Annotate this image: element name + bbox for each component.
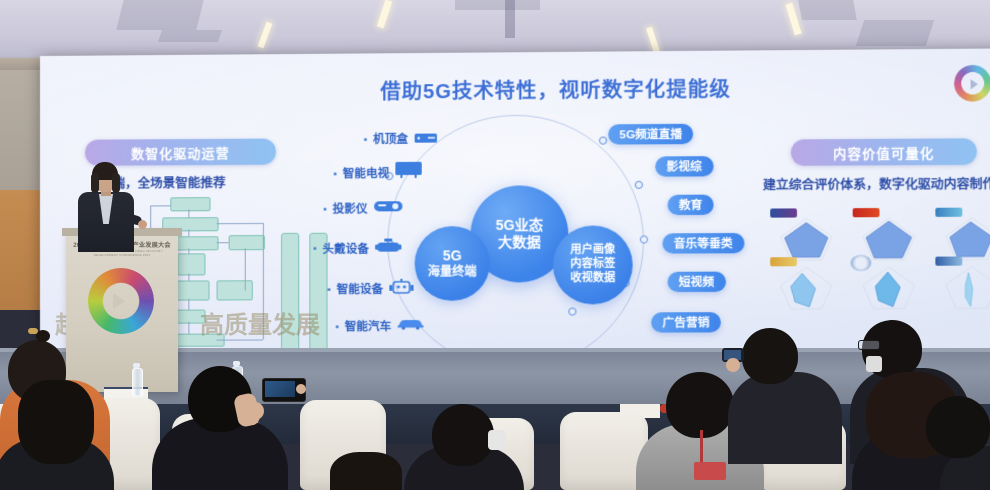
device-headset: 头戴设备 xyxy=(313,238,401,257)
audience-person-head xyxy=(926,396,990,458)
bullet-dot-icon xyxy=(364,137,367,140)
brand-logo-1-icon xyxy=(770,208,797,217)
category-pill-live-channel: 5G频道直播 xyxy=(608,124,693,145)
ceiling-panel xyxy=(158,30,222,42)
brand-logo-6-icon xyxy=(935,257,962,266)
ceiling-panel xyxy=(455,0,540,10)
bullet-dot-icon xyxy=(334,172,337,175)
device-label: 智能电视 xyxy=(343,165,390,181)
projector-icon xyxy=(374,199,402,217)
audience-hand xyxy=(726,358,740,372)
category-pill-music-vertical: 音乐等垂类 xyxy=(662,233,744,254)
calligraphy-overlay-right: 高质量发展 xyxy=(200,305,320,340)
audience-person-head xyxy=(666,372,734,438)
category-pill-film-tv: 影视综 xyxy=(655,156,713,177)
bullet-dot-icon xyxy=(323,207,326,210)
ceiling-vent xyxy=(505,0,515,38)
speaker-hair-side xyxy=(91,173,99,193)
bullet-dot-icon xyxy=(328,288,331,291)
device-set-top-box: 机顶盒 xyxy=(364,129,437,148)
circle-line: 海量终端 xyxy=(428,265,477,280)
hair-bun xyxy=(36,330,50,342)
tv-icon xyxy=(395,162,421,184)
circle-line: 大数据 xyxy=(498,234,541,252)
logo-play-triangle-icon xyxy=(971,79,978,89)
face-mask xyxy=(866,356,882,372)
left-panel-header: 数智化驱动运营 xyxy=(85,139,276,166)
circle-line: 5G业态 xyxy=(496,216,544,234)
presentation-screen: 借助5G技术特性，视听数字化提能级 数智化驱动运营 终端，全场景智能推荐 xyxy=(40,48,990,353)
slide-title: 借助5G技术特性，视听数字化提能级 xyxy=(352,73,760,105)
speaker-hair-side xyxy=(112,173,120,193)
audience-person-head xyxy=(18,380,94,464)
circle-user-data: 用户画像 内容标签 收视数据 xyxy=(553,225,633,304)
audience-hand xyxy=(246,402,264,420)
circle-line: 用户画像 xyxy=(570,244,615,258)
vr-headset-icon xyxy=(375,238,401,257)
bottle-cap xyxy=(133,363,140,368)
circle-line: 收视数据 xyxy=(570,272,615,286)
device-label: 投影仪 xyxy=(333,200,368,216)
right-panel-subtitle: 建立综合评价体系，数字化驱动内容制作 xyxy=(763,173,990,194)
water-bottle xyxy=(132,368,143,396)
conference-photo: 借助5G技术特性，视听数字化提能级 数智化驱动运营 终端，全场景智能推荐 xyxy=(0,0,990,490)
orbit-node xyxy=(640,235,648,243)
eyeglasses-icon xyxy=(858,340,880,350)
lanyard xyxy=(700,430,703,464)
chair xyxy=(560,412,648,490)
device-smart-tv: 智能电视 xyxy=(334,162,422,185)
orbit-node xyxy=(599,136,607,144)
category-pill-advertising: 广告营销 xyxy=(651,312,721,332)
circle-line: 内容标签 xyxy=(570,258,615,272)
radar-chart-5 xyxy=(851,259,927,314)
audience-person-head xyxy=(330,452,402,490)
brand-logo-2-icon xyxy=(853,208,880,217)
brand-logo-4-icon xyxy=(770,257,797,266)
right-panel-header: 内容价值可量化 xyxy=(791,138,977,166)
radar-chart-6 xyxy=(933,258,990,313)
radar-chart-4 xyxy=(768,259,844,314)
audience-hand xyxy=(296,384,306,394)
speaker-hand xyxy=(138,220,147,229)
orbit-node xyxy=(568,307,576,315)
face-mask xyxy=(488,430,506,450)
robot-icon xyxy=(389,279,413,299)
circle-line: 5G xyxy=(443,247,462,265)
brand-logo-5-icon xyxy=(851,255,872,271)
ceiling-panel xyxy=(116,0,203,30)
device-smart-device: 智能设备 xyxy=(328,279,414,299)
hair-clip xyxy=(28,328,38,334)
device-label: 智能设备 xyxy=(337,281,384,297)
device-projector: 投影仪 xyxy=(323,199,401,217)
device-smart-car: 智能汽车 xyxy=(336,317,424,335)
car-icon xyxy=(397,317,423,335)
circle-5g-terminals: 5G 海量终端 xyxy=(415,226,490,301)
brand-logo-3-icon xyxy=(935,208,962,217)
device-label: 头戴设备 xyxy=(322,240,369,256)
phone-screen[interactable] xyxy=(265,381,295,397)
audience-person-head xyxy=(742,328,798,384)
category-pill-education: 教育 xyxy=(668,195,714,215)
bullet-dot-icon xyxy=(313,247,316,250)
bottle-cap xyxy=(233,361,240,366)
ceiling-panel xyxy=(798,0,857,20)
audience-person-head xyxy=(432,404,494,466)
ceiling-panel xyxy=(856,20,934,46)
badge xyxy=(694,462,726,480)
orbit-node xyxy=(635,181,643,189)
set-top-box-icon xyxy=(414,129,436,147)
device-label: 智能汽车 xyxy=(345,318,392,334)
device-label: 机顶盒 xyxy=(373,131,408,147)
bullet-dot-icon xyxy=(336,325,339,328)
podium-play-triangle-icon xyxy=(113,293,125,309)
audience-person-body xyxy=(728,372,842,464)
category-pill-short-video: 短视频 xyxy=(668,272,726,292)
